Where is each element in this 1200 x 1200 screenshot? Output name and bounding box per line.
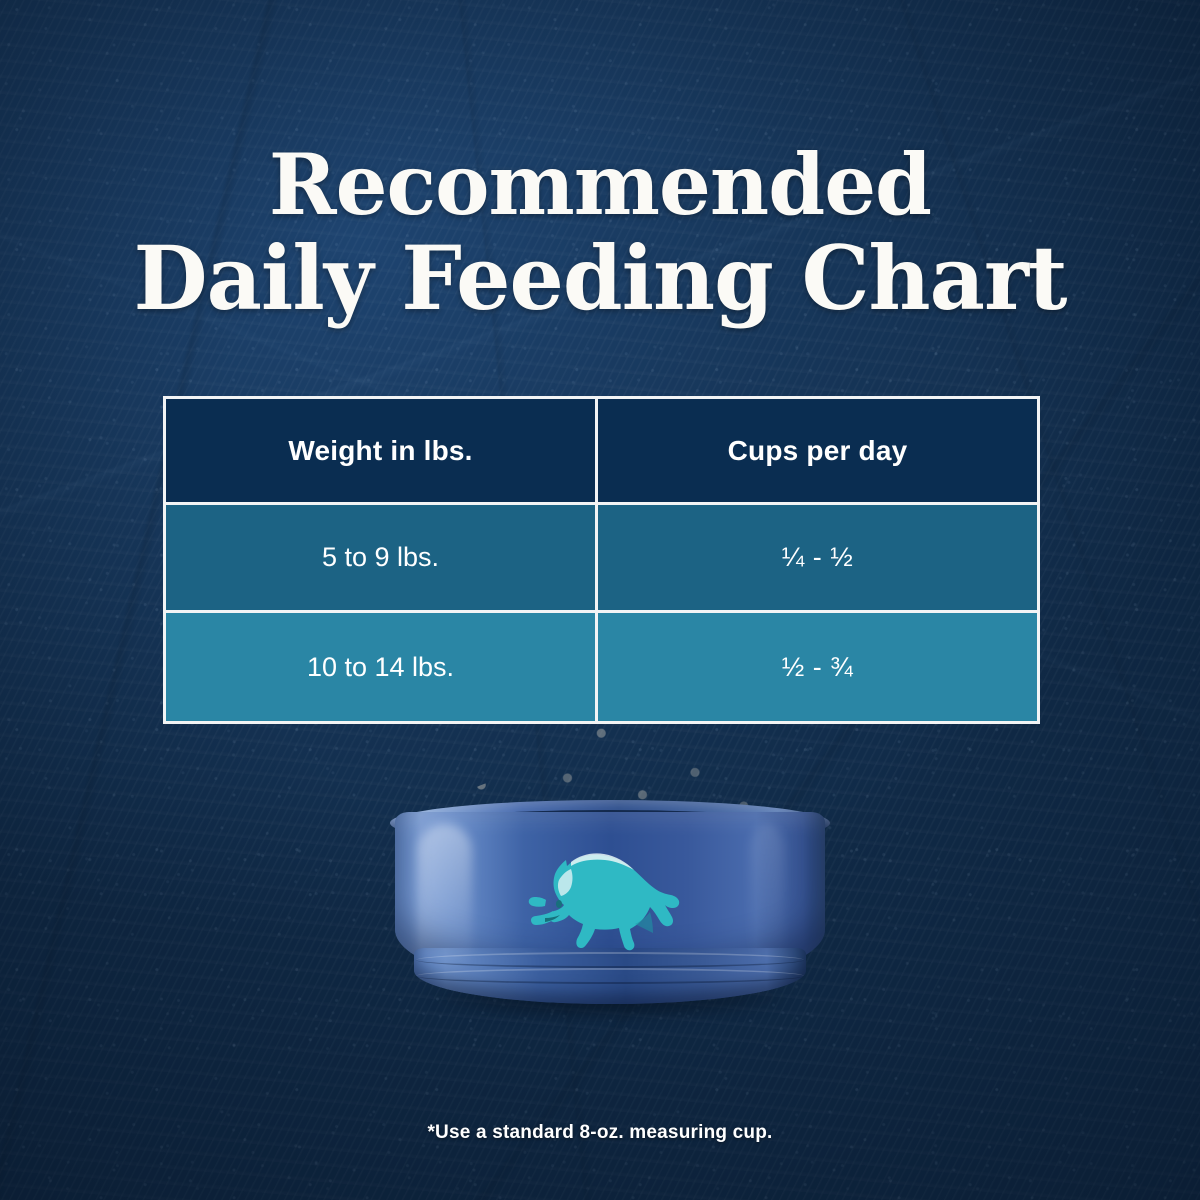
- cell-weight-1: 5 to 9 lbs.: [166, 505, 598, 613]
- column-header-cups: Cups per day: [598, 399, 1037, 505]
- bowl-highlight-left: [418, 824, 472, 974]
- title-line-2: Daily Feeding Chart: [18, 231, 1182, 326]
- footnote-text: *Use a standard 8-oz. measuring cup.: [0, 1122, 1200, 1144]
- bowl-ring-lower: [416, 968, 804, 984]
- page-title: Recommended Daily Feeding Chart: [18, 140, 1182, 326]
- cell-cups-1: ¼ - ½: [598, 505, 1037, 613]
- feeding-chart-poster: Recommended Daily Feeding Chart Weight i…: [0, 0, 1200, 1200]
- table-body: 5 to 9 lbs. ¼ - ½ 10 to 14 lbs. ½ - ¾: [166, 505, 1037, 721]
- table-row: 5 to 9 lbs. ¼ - ½: [166, 505, 1037, 613]
- bowl-highlight-right: [750, 824, 784, 974]
- feeding-table: Weight in lbs. Cups per day 5 to 9 lbs. …: [163, 396, 1040, 724]
- column-header-weight: Weight in lbs.: [166, 399, 598, 505]
- dog-bowl-image: [330, 700, 890, 1045]
- title-line-1: Recommended: [18, 140, 1182, 231]
- bison-icon: [515, 848, 711, 966]
- table-header: Weight in lbs. Cups per day: [166, 399, 1037, 505]
- table-header-row: Weight in lbs. Cups per day: [166, 399, 1037, 505]
